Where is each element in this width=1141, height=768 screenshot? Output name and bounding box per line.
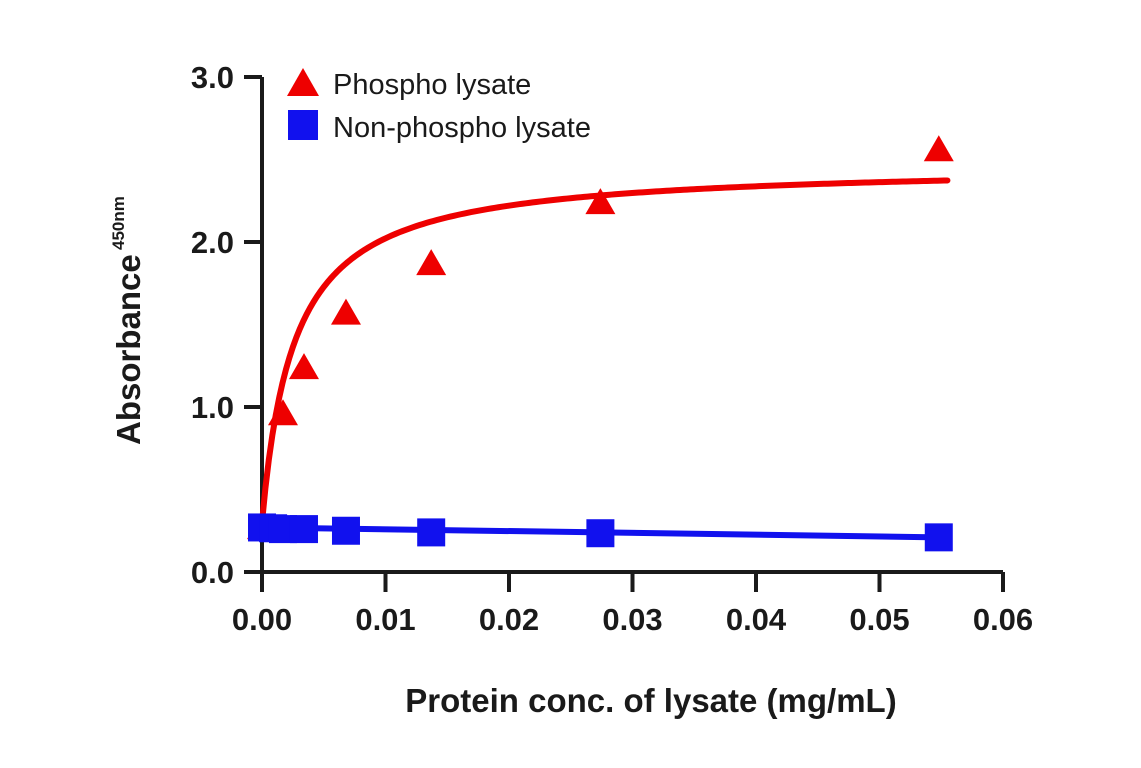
y-tick-label-3: 3.0 [191,60,234,95]
y-axis-title: Absorbance [110,254,147,445]
series-non-phospho [248,513,953,551]
data-series-layer [247,135,954,551]
data-point-triangle [331,299,361,325]
x-axis-tick-labels: 0.00 0.01 0.02 0.03 0.04 0.05 0.06 [232,602,1033,637]
y-axis-tick-labels: 3.0 2.0 1.0 0.0 [191,60,234,590]
trend-line [262,180,947,522]
x-axis-title: Protein conc. of lysate (mg/mL) [405,682,896,719]
data-point-square [290,515,318,543]
x-tick-label-1: 0.01 [355,602,415,637]
x-axis-ticks [262,572,1003,592]
y-tick-label-1: 1.0 [191,390,234,425]
x-tick-label-2: 0.02 [479,602,539,637]
data-point-triangle [289,353,319,379]
x-tick-label-4: 0.04 [726,602,787,637]
x-tick-label-6: 0.06 [973,602,1033,637]
x-tick-label-5: 0.05 [849,602,909,637]
legend-square-icon [288,110,318,140]
data-point-square [417,518,445,546]
y-tick-label-0: 0.0 [191,555,234,590]
data-point-square [925,523,953,551]
legend-label-phospho: Phospho lysate [333,69,531,101]
x-tick-label-0: 0.00 [232,602,292,637]
legend-item-non-phospho: Non-phospho lysate [288,110,591,144]
data-point-triangle [924,135,954,161]
axis-titles: Absorbance 450nm Protein conc. of lysate… [109,196,897,719]
legend-triangle-icon [287,68,319,96]
y-axis-title-subscript: 450nm [109,196,128,250]
data-point-triangle [268,399,298,425]
data-point-square [586,519,614,547]
data-point-triangle [416,249,446,275]
y-axis-ticks [244,77,262,572]
legend-item-phospho: Phospho lysate [287,68,531,101]
data-point-square [332,517,360,545]
legend-label-non-phospho: Non-phospho lysate [333,112,591,144]
series-phospho [247,135,954,539]
x-tick-label-3: 0.03 [602,602,662,637]
y-tick-label-2: 2.0 [191,225,234,260]
chart-container: 3.0 2.0 1.0 0.0 0.00 0.01 0.02 0.03 0.04… [0,0,1141,768]
axis-lines [262,77,1003,572]
chart-legend: Phospho lysate Non-phospho lysate [287,68,591,144]
absorbance-scatter-chart: 3.0 2.0 1.0 0.0 0.00 0.01 0.02 0.03 0.04… [0,0,1141,768]
